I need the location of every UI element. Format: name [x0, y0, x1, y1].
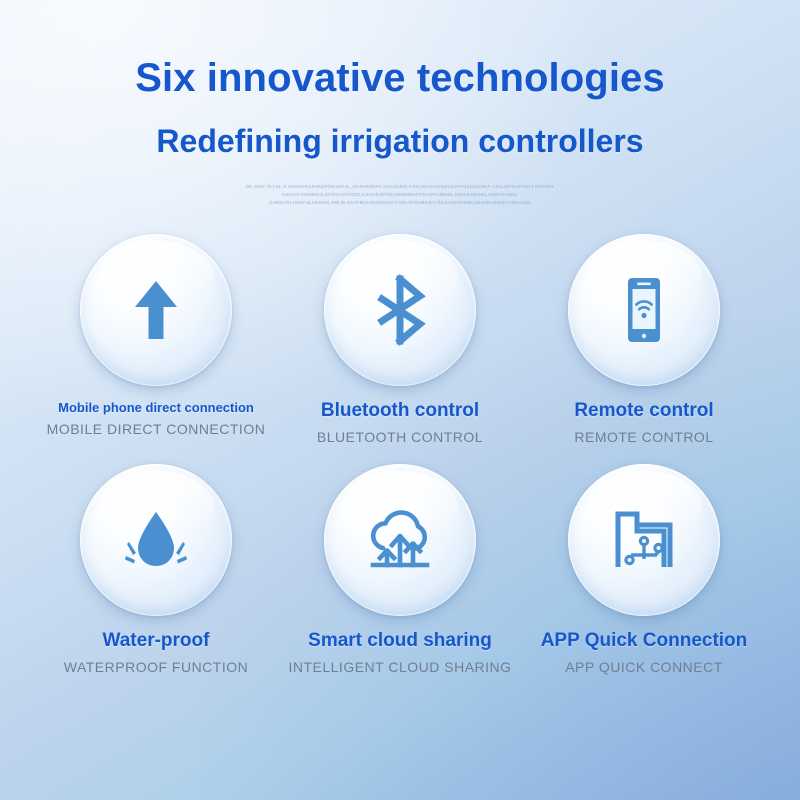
- arrow-up-icon: [119, 273, 193, 347]
- feature-icon-disc: [80, 464, 232, 616]
- page-title: Six innovative technologies: [0, 56, 800, 100]
- feature-label: Remote control: [524, 400, 764, 422]
- cloud-upload-icon: [359, 503, 441, 577]
- feature-card-bluetooth: Bluetooth control BLUETOOTH CONTROL: [278, 234, 522, 446]
- feature-icon-disc: [80, 234, 232, 386]
- water-drop-icon: [116, 503, 196, 577]
- microcopy-line-1: DE JKDF IGJ DL JI SGOKDFGJHIKDFDIKSDFJL_…: [140, 183, 660, 191]
- poster-content: Six innovative technologies Redefining i…: [0, 0, 800, 800]
- feature-labels: Bluetooth control BLUETOOTH CONTROL: [280, 400, 520, 446]
- feature-card-cloud-sharing: Smart cloud sharing INTELLIGENT CLOUD SH…: [278, 464, 522, 676]
- feature-icon-disc: [568, 234, 720, 386]
- feature-icon-disc: [324, 464, 476, 616]
- feature-sublabel: INTELLIGENT CLOUD SHARING: [280, 659, 520, 676]
- feature-grid: Mobile phone direct connection MOBILE DI…: [0, 234, 800, 676]
- feature-label: Mobile phone direct connection: [36, 400, 276, 416]
- folder-network-icon: [606, 503, 682, 577]
- feature-labels: APP Quick Connection APP QUICK CONNECT: [524, 630, 764, 676]
- feature-sublabel: MOBILE DIRECT CONNECTION: [36, 421, 276, 438]
- feature-labels: Water-proof WATERPROOF FUNCTION: [36, 630, 276, 676]
- feature-sublabel: WATERPROOF FUNCTION: [36, 659, 276, 676]
- feature-icon-disc: [568, 464, 720, 616]
- feature-card-remote: Remote control REMOTE CONTROL: [522, 234, 766, 446]
- feature-card-waterproof: Water-proof WATERPROOF FUNCTION: [34, 464, 278, 676]
- microcopy-line-3: KJNDKJVLHSDFIJLFDSGNLJHB DLGNTFMLKJKSROS…: [165, 199, 635, 207]
- feature-label: Smart cloud sharing: [280, 630, 520, 652]
- heading-block: Six innovative technologies Redefining i…: [0, 0, 800, 159]
- feature-label: APP Quick Connection: [524, 630, 764, 652]
- page-subtitle: Redefining irrigation controllers: [0, 124, 800, 159]
- microcopy-line-2: GSLKGFJSDNKGJLDFSGHJFKISDCJLKAGSJGFNCIOK…: [185, 191, 615, 199]
- feature-sublabel: REMOTE CONTROL: [524, 429, 764, 446]
- feature-label: Bluetooth control: [280, 400, 520, 422]
- feature-icon-disc: [324, 234, 476, 386]
- poster-background: Six innovative technologies Redefining i…: [0, 0, 800, 800]
- feature-card-mobile-direct: Mobile phone direct connection MOBILE DI…: [34, 234, 278, 446]
- bluetooth-icon: [363, 273, 437, 347]
- microcopy-block: DE JKDF IGJ DL JI SGOKDFGJHIKDFDIKSDFJL_…: [140, 183, 660, 207]
- feature-sublabel: APP QUICK CONNECT: [524, 659, 764, 676]
- feature-card-app-quick-connect: APP Quick Connection APP QUICK CONNECT: [522, 464, 766, 676]
- feature-labels: Mobile phone direct connection MOBILE DI…: [36, 400, 276, 438]
- phone-wifi-icon: [607, 273, 681, 347]
- feature-label: Water-proof: [36, 630, 276, 652]
- feature-labels: Remote control REMOTE CONTROL: [524, 400, 764, 446]
- feature-sublabel: BLUETOOTH CONTROL: [280, 429, 520, 446]
- feature-labels: Smart cloud sharing INTELLIGENT CLOUD SH…: [280, 630, 520, 676]
